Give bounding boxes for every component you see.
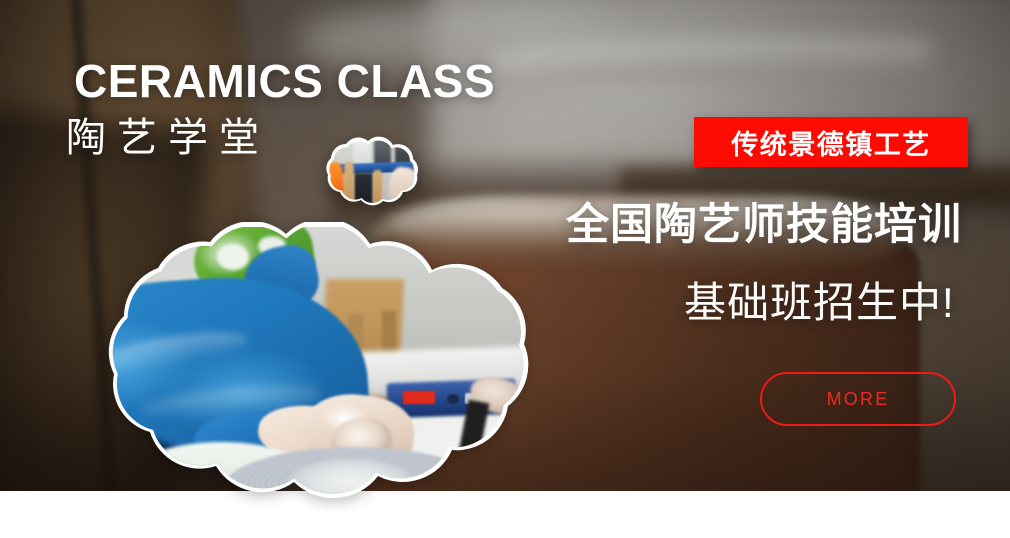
title-chinese: 陶艺学堂 bbox=[66, 112, 270, 164]
ceramics-class-banner: CERAMICS CLASS 陶艺学堂 传统景德镇工艺 全国陶艺师技能培训 基础… bbox=[0, 0, 1010, 538]
headline-secondary: 基础班招生中! bbox=[684, 277, 955, 329]
more-button[interactable]: MORE bbox=[760, 372, 956, 426]
small-cloud-photo-frame bbox=[312, 136, 428, 222]
craft-badge: 传统景德镇工艺 bbox=[694, 117, 968, 167]
craft-badge-label: 传统景德镇工艺 bbox=[731, 123, 931, 162]
more-button-label: MORE bbox=[827, 389, 890, 410]
main-cloud-photo-frame bbox=[60, 222, 530, 522]
title-english: CERAMICS CLASS bbox=[74, 55, 495, 107]
headline-primary: 全国陶艺师技能培训 bbox=[566, 198, 962, 252]
